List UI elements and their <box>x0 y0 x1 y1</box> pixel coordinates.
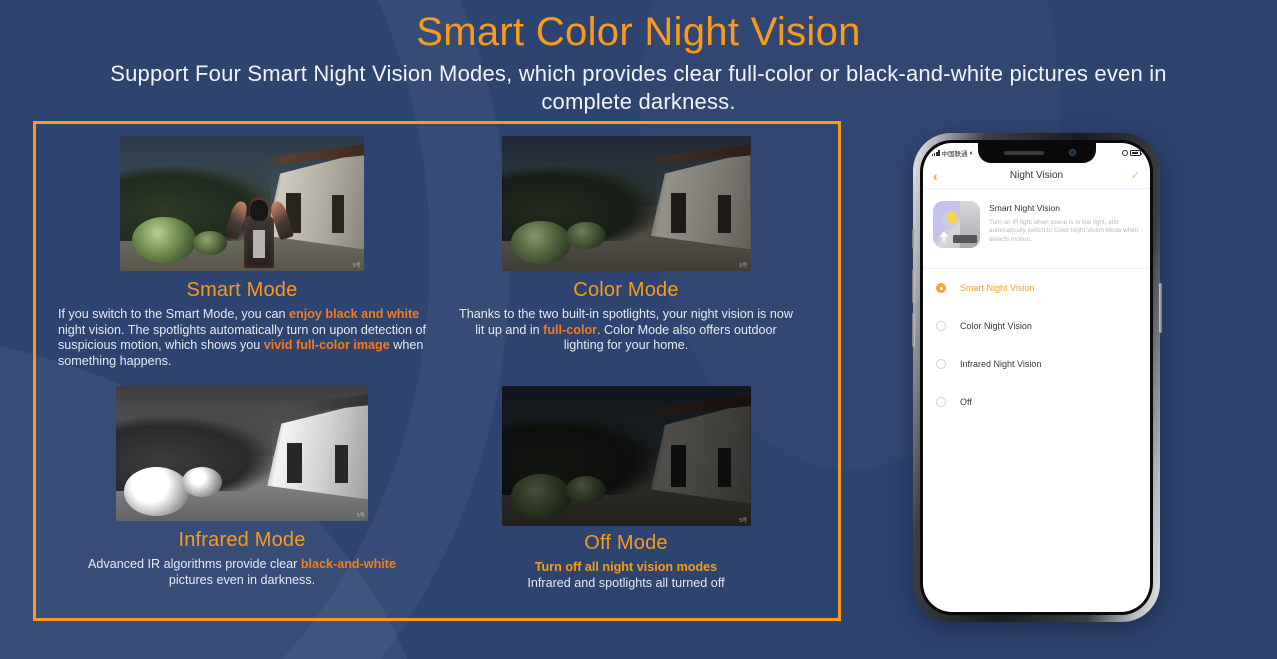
text-segment: If you switch to the Smart Mode, you can <box>58 307 289 321</box>
mode-title: Smart Mode <box>58 279 426 302</box>
color-mode-photo: 5号 <box>502 136 751 271</box>
option-label: Color Night Vision <box>960 321 1032 331</box>
mode-card-infrared: 5号 Infrared Mode Advanced IR algorithms … <box>58 386 426 588</box>
mode-card-off: 5号 Off Mode Turn off all night vision mo… <box>436 386 816 591</box>
highlight-segment: full-color <box>543 323 597 337</box>
smart-night-vision-thumbnail <box>933 201 980 248</box>
option-off[interactable]: Off <box>923 383 1150 421</box>
feature-info-block: Smart Night Vision Turn on IR light when… <box>923 189 1150 258</box>
phone-volume-down-button <box>912 313 915 347</box>
page-title: Smart Color Night Vision <box>0 8 1277 56</box>
photo-watermark: 5号 <box>739 517 747 524</box>
radio-icon[interactable] <box>936 283 946 293</box>
mode-description-smart: If you switch to the Smart Mode, you can… <box>58 307 426 369</box>
phone-volume-up-button <box>912 269 915 303</box>
battery-icon <box>1130 150 1141 156</box>
thumbnail-bar <box>953 235 977 243</box>
highlight-segment: vivid full-color image <box>264 338 390 352</box>
feature-info-text: Smart Night Vision Turn on IR light when… <box>989 201 1140 248</box>
mode-description-off: Turn off all night vision modes Infrared… <box>436 560 816 591</box>
infrared-mode-photo: 5号 <box>116 386 368 521</box>
photo-watermark: 5号 <box>357 512 365 519</box>
carrier-label: 中国联通 <box>942 148 968 158</box>
status-bar: 中国联通 ◐ <box>923 143 1150 163</box>
mode-title: Color Mode <box>436 279 816 302</box>
mode-card-color: 5号 Color Mode Thanks to the two built-in… <box>436 136 816 354</box>
text-segment: Advanced IR algorithms provide clear <box>88 557 301 571</box>
moon-icon <box>942 211 957 226</box>
mode-description-color: Thanks to the two built-in spotlights, y… <box>436 307 816 354</box>
phone-screen: 中国联通 ◐ ‹ Night Vision ✓ <box>923 143 1150 612</box>
radio-icon[interactable] <box>936 321 946 331</box>
person-figure <box>227 185 290 269</box>
radio-icon[interactable] <box>936 359 946 369</box>
text-line: Infrared and spotlights all turned off <box>436 576 816 592</box>
app-navigation-bar: ‹ Night Vision ✓ <box>923 163 1150 189</box>
wifi-icon: ◐ <box>970 150 974 157</box>
person-icon <box>939 231 949 244</box>
mode-title: Infrared Mode <box>58 529 426 552</box>
gear-icon <box>1122 150 1128 156</box>
mode-title: Off Mode <box>436 532 816 555</box>
highlight-segment: black-and-white <box>301 557 396 571</box>
phone-mute-switch <box>912 229 915 249</box>
photo-watermark: 5号 <box>353 262 361 269</box>
highlight-segment: enjoy black and white <box>289 307 419 321</box>
phone-mockup: 中国联通 ◐ ‹ Night Vision ✓ <box>913 133 1160 622</box>
header: Smart Color Night Vision Support Four Sm… <box>0 0 1277 116</box>
option-smart-night-vision[interactable]: Smart Night Vision <box>923 269 1150 307</box>
text-segment: pictures even in darkness. <box>169 573 315 587</box>
smart-mode-photo: 5号 <box>120 136 364 271</box>
option-label: Smart Night Vision <box>960 283 1034 293</box>
app-screen-title: Night Vision <box>923 170 1150 181</box>
feature-title: Smart Night Vision <box>989 203 1140 213</box>
page-subtitle: Support Four Smart Night Vision Modes, w… <box>0 60 1277 116</box>
phone-bezel: 中国联通 ◐ ‹ Night Vision ✓ <box>920 140 1153 615</box>
option-label: Infrared Night Vision <box>960 359 1041 369</box>
feature-description: Turn on IR light when scene is in low li… <box>989 219 1140 244</box>
phone-power-button <box>1159 283 1162 333</box>
night-vision-options-list: Smart Night Vision Color Night Vision In… <box>923 268 1150 421</box>
off-mode-photo: 5号 <box>502 386 751 526</box>
phone-frame: 中国联通 ◐ ‹ Night Vision ✓ <box>913 133 1160 622</box>
photo-watermark: 5号 <box>739 262 747 269</box>
option-label: Off <box>960 397 972 407</box>
signal-bars-icon <box>932 150 940 156</box>
mode-card-smart: 5号 Smart Mode If you switch to the Smart… <box>58 136 426 369</box>
radio-icon[interactable] <box>936 397 946 407</box>
modes-panel: 5号 Smart Mode If you switch to the Smart… <box>33 121 841 621</box>
option-color-night-vision[interactable]: Color Night Vision <box>923 307 1150 345</box>
mode-description-infrared: Advanced IR algorithms provide clear bla… <box>58 557 426 588</box>
highlight-line: Turn off all night vision modes <box>436 560 816 576</box>
option-infrared-night-vision[interactable]: Infrared Night Vision <box>923 345 1150 383</box>
